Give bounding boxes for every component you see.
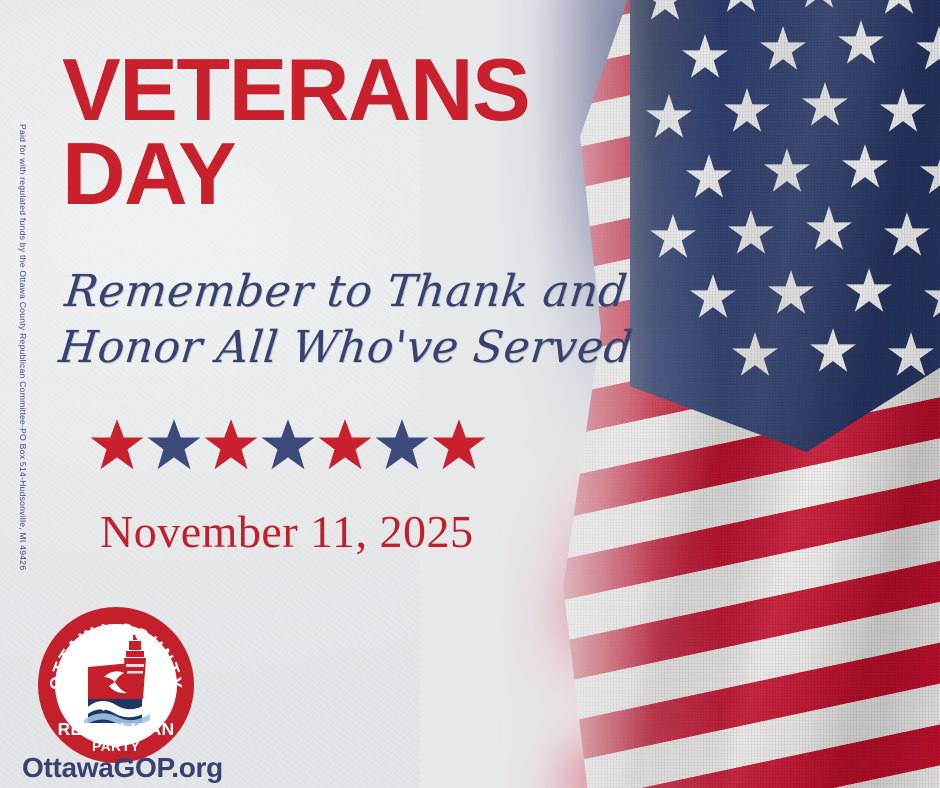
star-icon xyxy=(318,418,372,472)
star-icon xyxy=(375,418,429,472)
logo-graphics: OTTAWA COUNTY xyxy=(38,607,194,763)
star-icon xyxy=(147,418,201,472)
headline-line-2: DAY xyxy=(62,132,529,216)
veterans-day-poster: Paid for with regulated funds by the Ott… xyxy=(0,0,940,788)
stars-divider xyxy=(90,418,486,472)
subtitle-line-2: Honor All Who've Served xyxy=(56,320,635,376)
star-icon xyxy=(90,418,144,472)
ottawa-county-republican-party-logo[interactable]: OTTAWA COUNTY REPUBLICAN PARTY xyxy=(38,607,194,763)
page-title: VETERANS DAY xyxy=(62,48,529,215)
paid-for-disclaimer: Paid for with regulated funds by the Ott… xyxy=(18,124,28,544)
wave-icon xyxy=(84,699,150,726)
logo-emblem xyxy=(84,635,150,726)
website-url[interactable]: OttawaGOP.org xyxy=(22,752,223,784)
subtitle: Remember to Thank and Honor All Who've S… xyxy=(56,264,641,377)
star-icon xyxy=(261,418,315,472)
star-icon xyxy=(432,418,486,472)
subtitle-line-1: Remember to Thank and xyxy=(62,266,630,317)
event-date: November 11, 2025 xyxy=(100,505,473,558)
star-icon xyxy=(204,418,258,472)
